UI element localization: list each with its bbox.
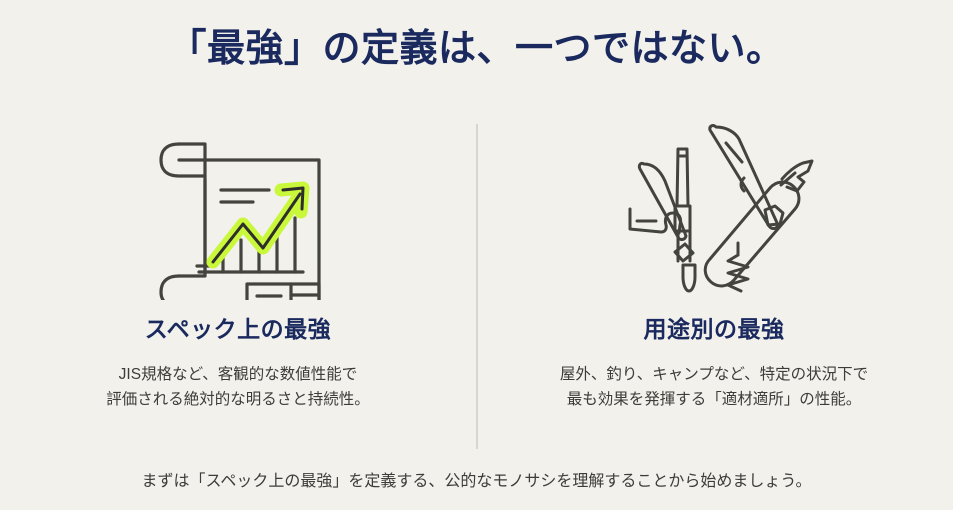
slide-root: 「最強」の定義は、一つではない。 [0,0,953,510]
footer-note: まずは「スペック上の最強」を定義する、公的なモノサシを理解することから始めましょ… [0,470,953,494]
column-divider [476,124,478,449]
column-body-usecase: 屋外、釣り、キャンプなど、特定の状況下で 最も効果を発揮する「適材適所」の性能。 [560,362,868,412]
column-body-line: 最も効果を発揮する「適材適所」の性能。 [560,387,868,412]
page-title: 「最強」の定義は、一つではない。 [0,26,953,74]
column-body-line: 屋外、釣り、キャンプなど、特定の状況下で [560,362,868,387]
column-heading-spec: スペック上の最強 [145,310,331,344]
column-spec-strength: スペック上の最強 JIS規格など、客観的な数値性能で 評価される絶対的な明るさと… [0,112,476,412]
blueprint-chart-icon [143,112,333,308]
swiss-army-knife-icon [609,112,819,308]
comparison-columns: スペック上の最強 JIS規格など、客観的な数値性能で 評価される絶対的な明るさと… [0,112,953,457]
column-body-spec: JIS規格など、客観的な数値性能で 評価される絶対的な明るさと持続性。 [106,362,370,412]
column-body-line: JIS規格など、客観的な数値性能で [106,362,370,387]
column-body-line: 評価される絶対的な明るさと持続性。 [106,387,370,412]
column-usecase-strength: 用途別の最強 屋外、釣り、キャンプなど、特定の状況下で 最も効果を発揮する「適材… [476,112,952,412]
column-heading-usecase: 用途別の最強 [644,310,785,344]
